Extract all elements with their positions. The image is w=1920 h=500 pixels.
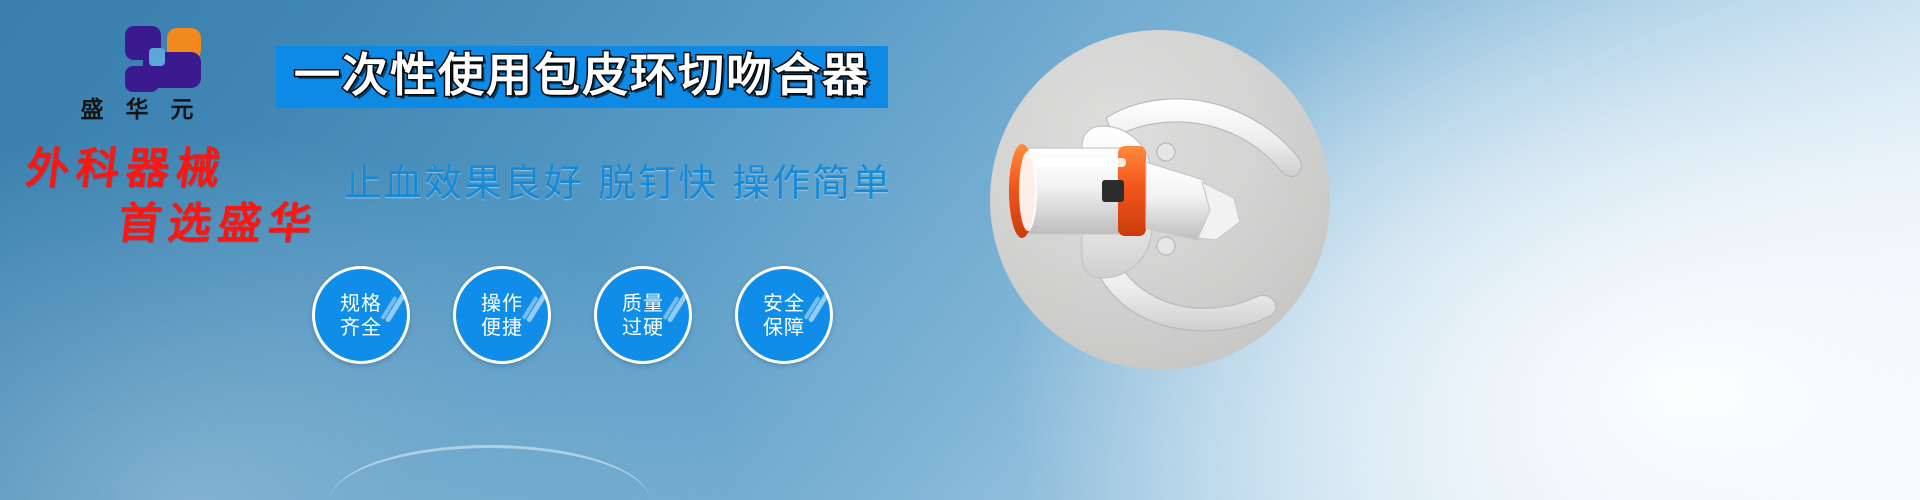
- badge-gloss-icon: [385, 283, 410, 323]
- subtitle-text: 止血效果良好 脱钉快 操作简单: [344, 163, 892, 205]
- feature-badge-specifications[interactable]: 规格 齐全: [312, 266, 410, 364]
- badge-label-line-1: 规格: [340, 291, 382, 315]
- calligraphy-line-2: 首选盛华: [115, 203, 350, 246]
- brand-logo-block: 盛 华 元: [62, 26, 212, 123]
- decorative-arc: [330, 445, 650, 500]
- feature-badge-list: 规格 齐全 操作 便捷 质量 过硬 安全 保障: [312, 266, 833, 364]
- company-name: 盛 华 元: [62, 98, 212, 123]
- badge-gloss-small-icon: [521, 296, 538, 320]
- circumcision-stapler-illustration: [990, 30, 1330, 370]
- feature-badge-safety[interactable]: 安全 保障: [735, 266, 833, 364]
- headline-bar: 一次性使用包皮环切吻合器: [276, 46, 888, 108]
- feature-badge-operation[interactable]: 操作 便捷: [453, 266, 551, 364]
- badge-gloss-icon: [526, 283, 551, 323]
- badge-label-line-2: 便捷: [481, 315, 523, 339]
- product-promo-banner: 盛 华 元 外科器械 首选盛华 一次性使用包皮环切吻合器 止血效果良好 脱钉快 …: [0, 0, 1920, 500]
- badge-label-line-1: 操作: [481, 291, 523, 315]
- badge-gloss-small-icon: [662, 296, 679, 320]
- feature-badge-quality[interactable]: 质量 过硬: [594, 266, 692, 364]
- logo-shape-notch: [149, 48, 165, 66]
- shenghuayuan-logo-icon: [91, 26, 183, 94]
- page-title: 一次性使用包皮环切吻合器: [294, 52, 870, 98]
- product-image: [990, 30, 1330, 370]
- logo-shape-bottom-left: [125, 66, 159, 92]
- badge-label-line-1: 安全: [763, 291, 805, 315]
- calligraphy-line-1: 外科器械: [23, 148, 350, 191]
- badge-label-line-2: 齐全: [340, 315, 382, 339]
- calligraphy-slogan: 外科器械 首选盛华: [18, 148, 348, 246]
- badge-label-line-2: 保障: [763, 315, 805, 339]
- badge-gloss-icon: [808, 283, 833, 323]
- badge-gloss-small-icon: [803, 296, 820, 320]
- badge-gloss-icon: [667, 283, 692, 323]
- badge-gloss-small-icon: [380, 296, 397, 320]
- badge-label-line-1: 质量: [622, 291, 664, 315]
- badge-label-line-2: 过硬: [622, 315, 664, 339]
